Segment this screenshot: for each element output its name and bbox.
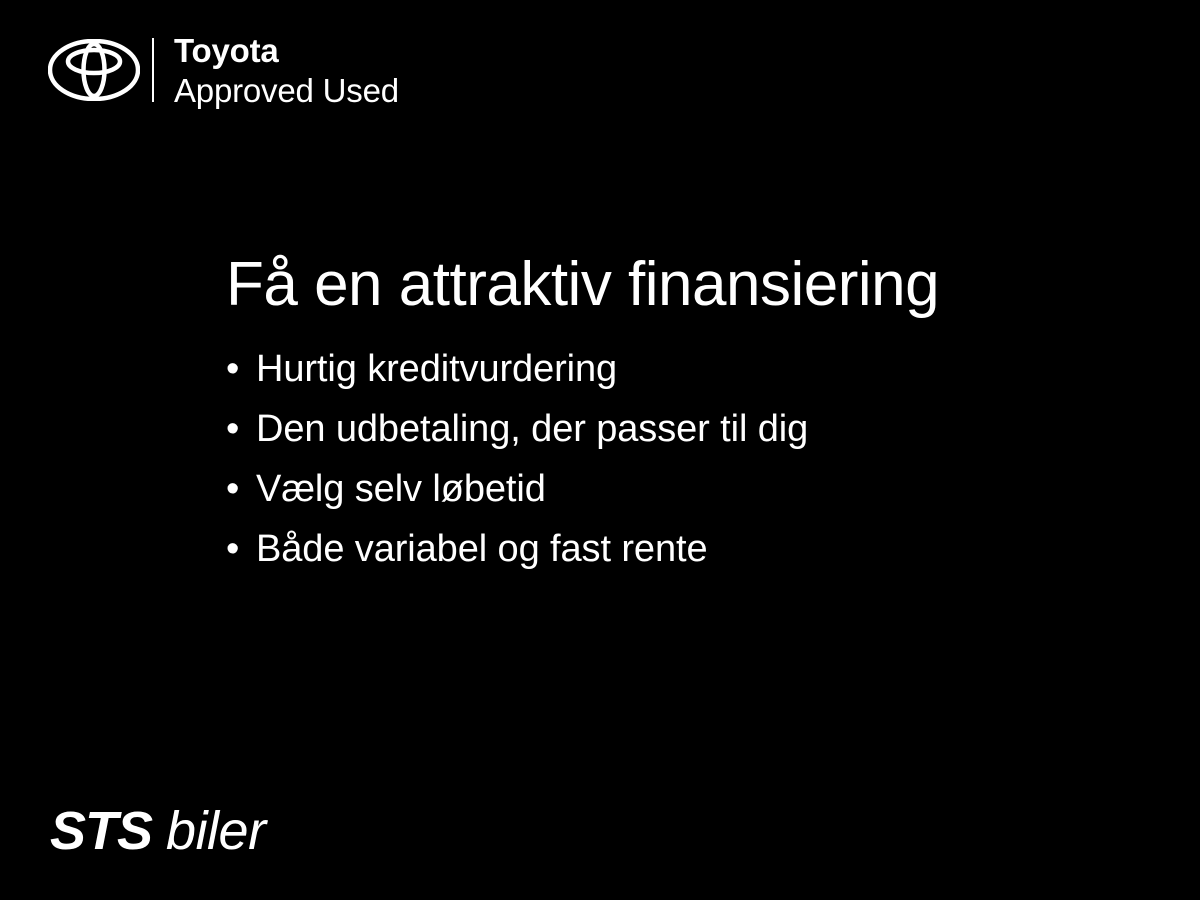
bullet-icon: • <box>226 399 256 459</box>
bullet-icon: • <box>226 519 256 579</box>
sts-logo-word: biler <box>166 804 266 858</box>
toyota-approved-used-lockup: Toyota Approved Used <box>48 34 399 106</box>
sts-logo-mark: STS <box>50 804 152 858</box>
presentation-slide: Toyota Approved Used Få en attraktiv fin… <box>0 0 1200 900</box>
bullet-icon: • <box>226 339 256 399</box>
list-item-label: Vælg selv løbetid <box>256 459 546 519</box>
list-item: • Vælg selv løbetid <box>226 459 1106 519</box>
bullet-icon: • <box>226 459 256 519</box>
list-item: • Hurtig kreditvurdering <box>226 339 1106 399</box>
slide-headline: Få en attraktiv finansiering <box>226 252 1106 317</box>
list-item-label: Både variabel og fast rente <box>256 519 707 579</box>
list-item-label: Hurtig kreditvurdering <box>256 339 617 399</box>
benefits-list: • Hurtig kreditvurdering • Den udbetalin… <box>226 339 1106 579</box>
brand-program-label: Approved Used <box>174 74 399 107</box>
list-item: • Både variabel og fast rente <box>226 519 1106 579</box>
vertical-divider-icon <box>152 38 154 102</box>
brand-name: Toyota <box>174 34 399 67</box>
brand-wordmark: Toyota Approved Used <box>174 34 399 107</box>
toyota-emblem-icon <box>48 39 140 101</box>
list-item: • Den udbetaling, der passer til dig <box>226 399 1106 459</box>
sts-biler-logo: STS biler <box>50 804 266 858</box>
slide-content: Få en attraktiv finansiering • Hurtig kr… <box>226 252 1106 579</box>
list-item-label: Den udbetaling, der passer til dig <box>256 399 808 459</box>
